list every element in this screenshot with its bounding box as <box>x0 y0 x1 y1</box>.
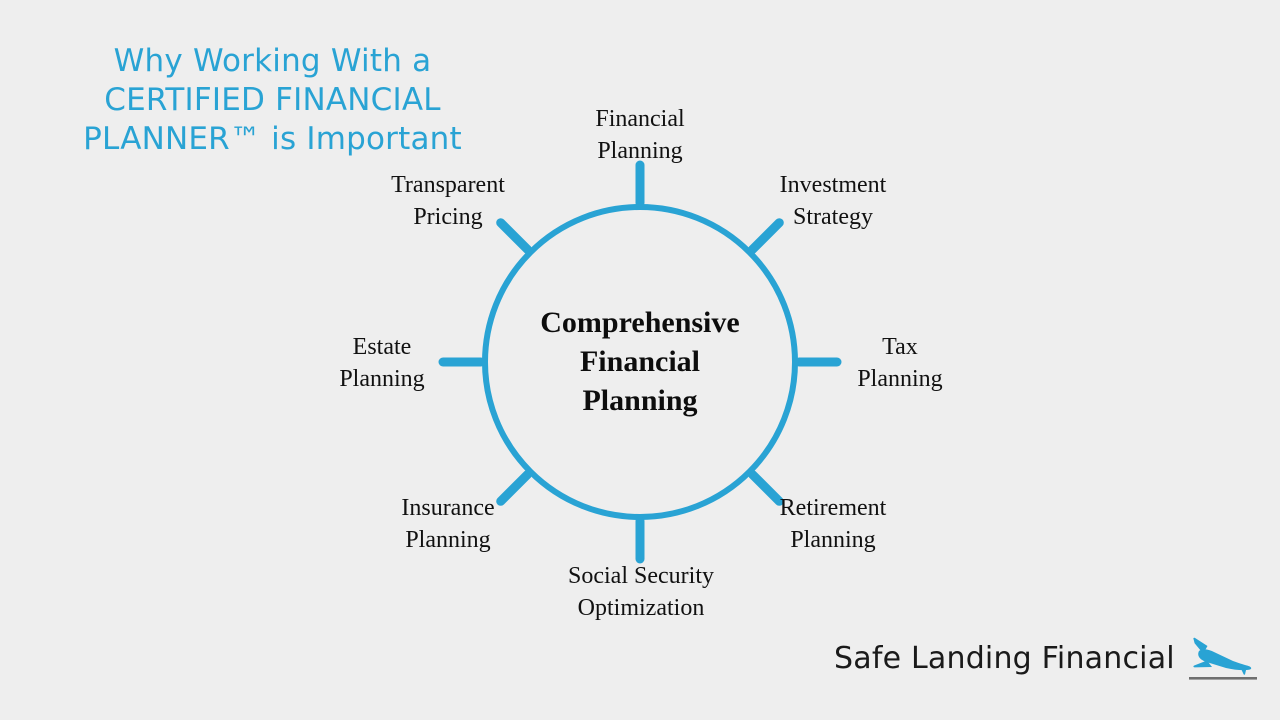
spoke-label-line: Pricing <box>348 201 548 233</box>
spoke-label-transparent-pricing: Transparent Pricing <box>348 169 548 233</box>
slide-canvas: Why Working With a CERTIFIED FINANCIAL P… <box>0 0 1280 720</box>
hub-label: Comprehensive Financial Planning <box>498 303 782 420</box>
spoke-label-insurance-planning: Insurance Planning <box>348 492 548 556</box>
brand-name: Safe Landing Financial <box>834 641 1175 676</box>
spoke-label-line: Transparent <box>348 169 548 201</box>
runway-line <box>1189 677 1257 680</box>
spoke-label-line: Planning <box>282 363 482 395</box>
spoke-label-line: Financial <box>540 103 740 135</box>
spoke-label-line: Optimization <box>541 592 741 624</box>
spoke-label-line: Planning <box>348 524 548 556</box>
spoke-label-tax-planning: Tax Planning <box>800 331 1000 395</box>
spoke-label-investment-strategy: Investment Strategy <box>733 169 933 233</box>
hub-label-line-3: Planning <box>498 381 782 420</box>
spoke-label-line: Social Security <box>541 560 741 592</box>
spoke-label-line: Strategy <box>733 201 933 233</box>
spoke-label-retirement-planning: Retirement Planning <box>733 492 933 556</box>
spoke-label-social-security-optimization: Social Security Optimization <box>541 560 741 624</box>
hub-and-spoke-diagram: Comprehensive Financial Planning Financi… <box>0 0 1280 720</box>
spoke-label-line: Retirement <box>733 492 933 524</box>
spoke-label-line: Estate <box>282 331 482 363</box>
spoke-label-line: Tax <box>800 331 1000 363</box>
brand-logo: Safe Landing Financial <box>834 632 1259 684</box>
spoke-label-financial-planning: Financial Planning <box>540 103 740 167</box>
spoke-label-estate-planning: Estate Planning <box>282 331 482 395</box>
hub-label-line-2: Financial <box>498 342 782 381</box>
spoke-label-line: Investment <box>733 169 933 201</box>
airplane-landing-icon <box>1187 634 1259 682</box>
spoke-label-line: Insurance <box>348 492 548 524</box>
airplane-landing-glyph <box>1187 634 1259 682</box>
hub-label-line-1: Comprehensive <box>498 303 782 342</box>
spoke-label-line: Planning <box>733 524 933 556</box>
spoke-label-line: Planning <box>800 363 1000 395</box>
spoke-label-line: Planning <box>540 135 740 167</box>
